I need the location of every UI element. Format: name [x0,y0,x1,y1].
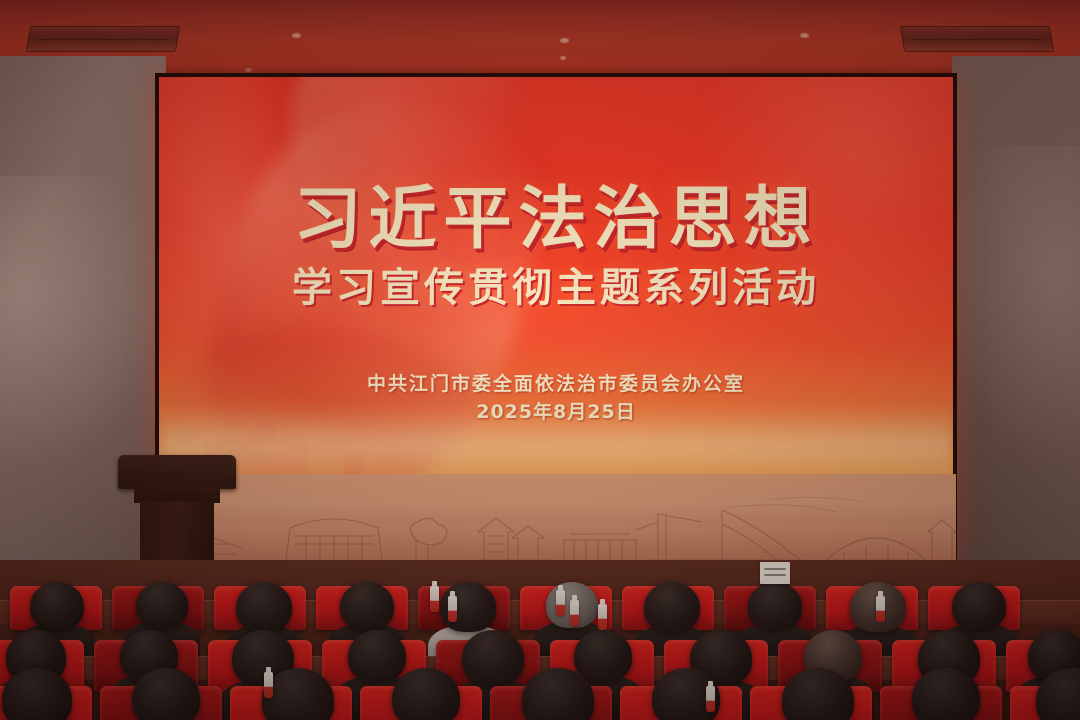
water-bottle [430,586,439,612]
water-bottle [556,590,565,616]
screen-date: 2025年8月25日 [159,397,953,424]
attendee-head [644,582,700,632]
attendee-head [574,630,632,682]
podium-top [118,455,236,489]
attendee-head [132,668,200,720]
water-bottle [876,596,885,622]
ceiling-vent-left [26,26,181,52]
ceiling-downlight [800,33,809,38]
attendee-head [30,582,84,630]
attendee-head [748,582,802,630]
attendee-head [340,582,394,630]
attendee-head [236,582,292,632]
water-bottle [570,600,579,626]
conference-hall-scene: 习近平法治思想 学习宣传贯彻主题系列活动 中共江门市委全面依法治市委员会办公室 … [0,0,1080,720]
attendee-head [952,582,1006,630]
ceiling-downlight [292,33,301,38]
screen-sub-title: 学习宣传贯彻主题系列活动 [159,255,953,313]
screen-main-title: 习近平法治思想 [159,163,953,262]
audience-area [0,560,1080,720]
ceiling-downlight [560,38,569,43]
name-placard [760,562,790,584]
attendee-head [912,668,980,720]
screen-organizer: 中共江门市委全面依法治市委员会办公室 [159,369,953,396]
wall-panel-right [952,56,1080,604]
ceiling-downlight [560,56,566,60]
water-bottle [598,604,607,630]
ceiling-downlight [245,68,252,72]
mural-sky-gradient [166,474,956,518]
attendee-head [392,668,460,720]
water-bottle [706,686,715,712]
ceiling-vent-right [900,26,1055,52]
water-bottle [264,672,273,698]
attendee-head [348,630,406,682]
attendee-head [462,630,524,686]
skyline-mural [166,474,956,568]
water-bottle [448,596,457,622]
attendee-head [136,582,188,628]
